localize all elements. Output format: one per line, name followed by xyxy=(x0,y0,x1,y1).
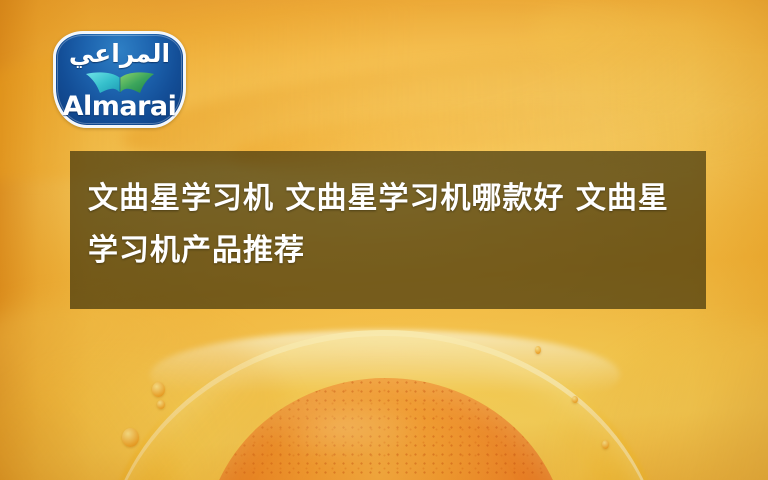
logo-arabic-wordmark: المراعي xyxy=(53,39,186,69)
logo-latin-wordmark: Almarai xyxy=(53,92,186,122)
almarai-logo: المراعي Almarai xyxy=(53,31,186,128)
thumbnail-image: المراعي Almarai 文曲星学习机 文曲星 xyxy=(0,0,768,480)
article-title: 文曲星学习机 文曲星学习机哪款好 文曲星学习机产品推荐 xyxy=(88,173,696,277)
title-banner: 文曲星学习机 文曲星学习机哪款好 文曲星学习机产品推荐 xyxy=(70,151,706,309)
